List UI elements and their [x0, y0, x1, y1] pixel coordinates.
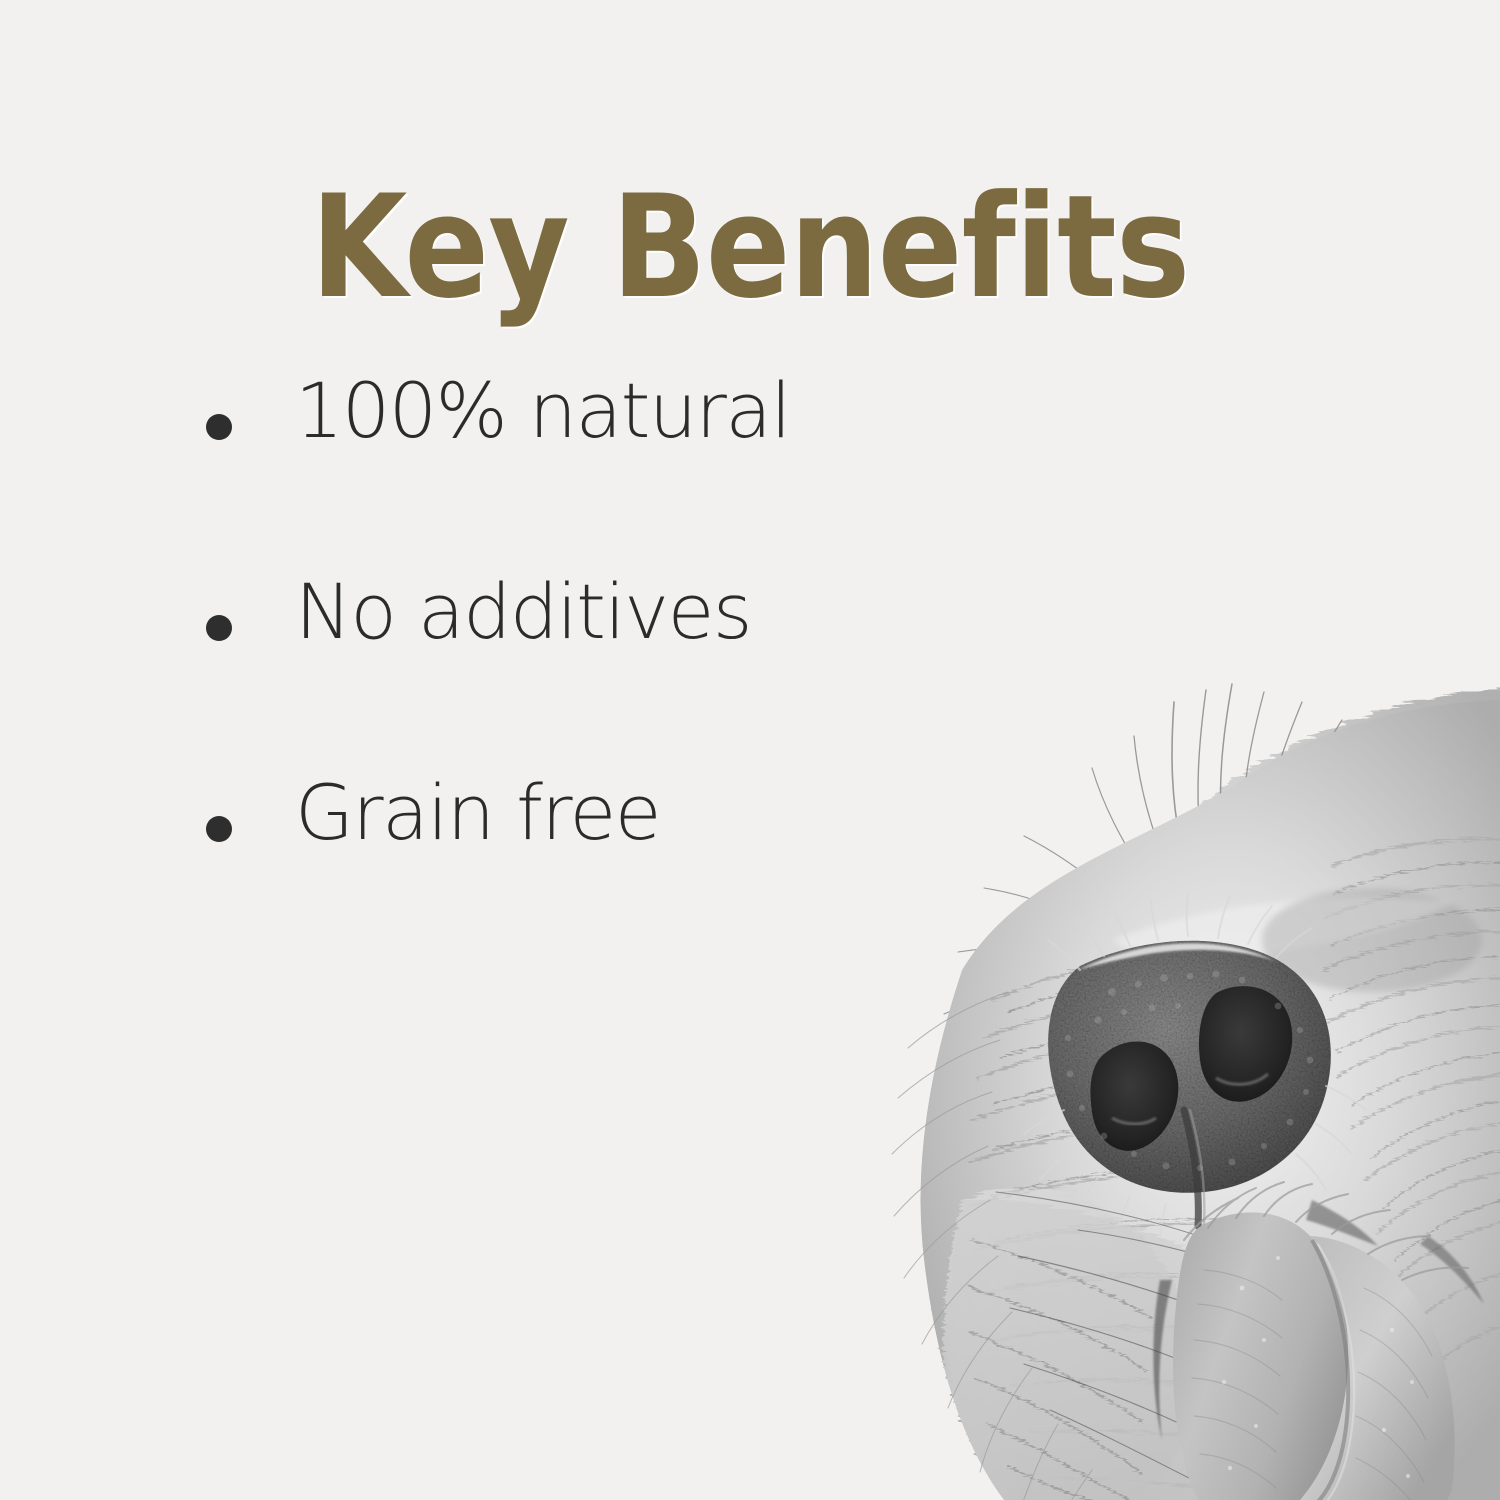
- list-item: Grain free: [190, 774, 830, 975]
- dog-muzzle-photo: [812, 640, 1500, 1500]
- benefit-label: Grain free: [295, 774, 660, 852]
- benefits-list: 100% natural No additives Grain free: [190, 372, 830, 975]
- page-title: Key Benefits: [90, 177, 1410, 319]
- bullet-icon: [206, 816, 232, 842]
- key-benefits-panel: Key Benefits 100% natural No additives G…: [0, 0, 1500, 1500]
- list-item: 100% natural: [190, 372, 830, 573]
- dog-muzzle-illustration: [812, 640, 1500, 1500]
- bullet-icon: [206, 414, 232, 440]
- bullet-icon: [206, 615, 232, 641]
- list-item: No additives: [190, 573, 830, 774]
- benefit-label: 100% natural: [295, 372, 790, 450]
- benefit-label: No additives: [295, 573, 751, 651]
